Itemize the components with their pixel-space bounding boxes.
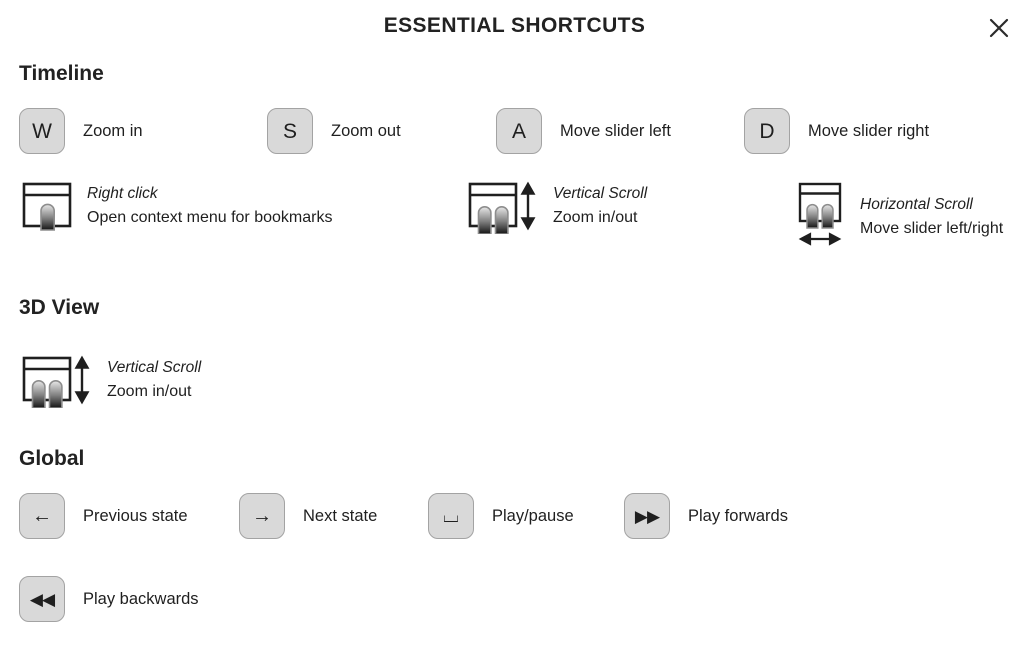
shortcut-previous-state[interactable]: ← Previous state [19,493,239,539]
shortcut-zoom-out[interactable]: S Zoom out [267,108,496,154]
section-timeline: Timeline W Zoom in S Zoom out A Move sli… [0,62,1029,252]
shortcut-text: Vertical Scroll Zoom in/out [107,357,201,403]
shortcut-label: Move slider left [560,122,671,141]
key-arrow-left[interactable]: ← [19,493,65,539]
shortcut-text: Right click Open context menu for bookma… [87,183,332,229]
shortcut-move-slider-left[interactable]: A Move slider left [496,108,744,154]
key-play-backwards[interactable]: ◀◀ [19,576,65,622]
mouse-action: Vertical Scroll [553,183,647,206]
mouse-desc: Zoom in/out [553,206,647,229]
mouse-desc: Zoom in/out [107,380,201,403]
shortcut-label: Zoom in [83,122,143,141]
shortcut-play-forwards[interactable]: ▶▶ Play forwards [624,493,788,539]
key-a[interactable]: A [496,108,542,154]
key-arrow-right[interactable]: → [239,493,285,539]
global-key-row-2: ◀◀ Play backwards [0,576,1029,622]
mouse-action: Right click [87,183,332,206]
mouse-vertical-scroll-icon [19,352,95,408]
timeline-mouse-row: Right click Open context menu for bookma… [0,178,1029,252]
section-title-global: Global [0,447,1029,471]
shortcut-next-state[interactable]: → Next state [239,493,428,539]
close-icon [988,17,1010,39]
timeline-key-row: W Zoom in S Zoom out A Move slider left … [0,108,1029,154]
key-s[interactable]: S [267,108,313,154]
shortcut-text: Horizontal Scroll Move slider left/right [860,194,1003,240]
shortcut-vertical-scroll-3d[interactable]: Vertical Scroll Zoom in/out [19,352,201,408]
mouse-action: Vertical Scroll [107,357,201,380]
mouse-horizontal-scroll-icon [792,182,848,252]
shortcut-move-slider-right[interactable]: D Move slider right [744,108,929,154]
mouse-right-click-icon [19,178,75,234]
shortcut-play-backwards[interactable]: ◀◀ Play backwards [19,576,199,622]
shortcut-label: Next state [303,507,377,526]
shortcut-horizontal-scroll[interactable]: Horizontal Scroll Move slider left/right [792,182,1003,252]
section-title-3d-view: 3D View [0,296,1029,320]
shortcut-text: Vertical Scroll Zoom in/out [553,183,647,229]
key-w[interactable]: W [19,108,65,154]
mouse-action: Horizontal Scroll [860,194,1003,217]
shortcut-zoom-in[interactable]: W Zoom in [19,108,267,154]
shortcut-label: Play forwards [688,507,788,526]
shortcut-label: Play/pause [492,507,574,526]
key-space[interactable]: ⌴ [428,493,474,539]
mouse-desc: Move slider left/right [860,217,1003,240]
mouse-desc: Open context menu for bookmarks [87,206,332,229]
global-key-row-1: ← Previous state → Next state ⌴ Play/pau… [0,493,1029,539]
shortcut-right-click[interactable]: Right click Open context menu for bookma… [19,178,465,234]
page-title: ESSENTIAL SHORTCUTS [0,14,1029,38]
key-d[interactable]: D [744,108,790,154]
section-3d-view: 3D View [0,296,1029,408]
shortcut-vertical-scroll-timeline[interactable]: Vertical Scroll Zoom in/out [465,178,792,234]
close-button[interactable] [983,12,1015,44]
section-title-timeline: Timeline [0,62,1029,86]
shortcut-label: Previous state [83,507,188,526]
shortcut-label: Move slider right [808,122,929,141]
key-play-forwards[interactable]: ▶▶ [624,493,670,539]
shortcut-label: Zoom out [331,122,401,141]
shortcut-play-pause[interactable]: ⌴ Play/pause [428,493,624,539]
mouse-vertical-scroll-icon [465,178,541,234]
view3d-mouse-row: Vertical Scroll Zoom in/out [0,352,1029,408]
section-global: Global ← Previous state → Next state ⌴ P… [0,447,1029,622]
shortcut-label: Play backwards [83,590,199,609]
dialog-header: ESSENTIAL SHORTCUTS [0,0,1029,56]
